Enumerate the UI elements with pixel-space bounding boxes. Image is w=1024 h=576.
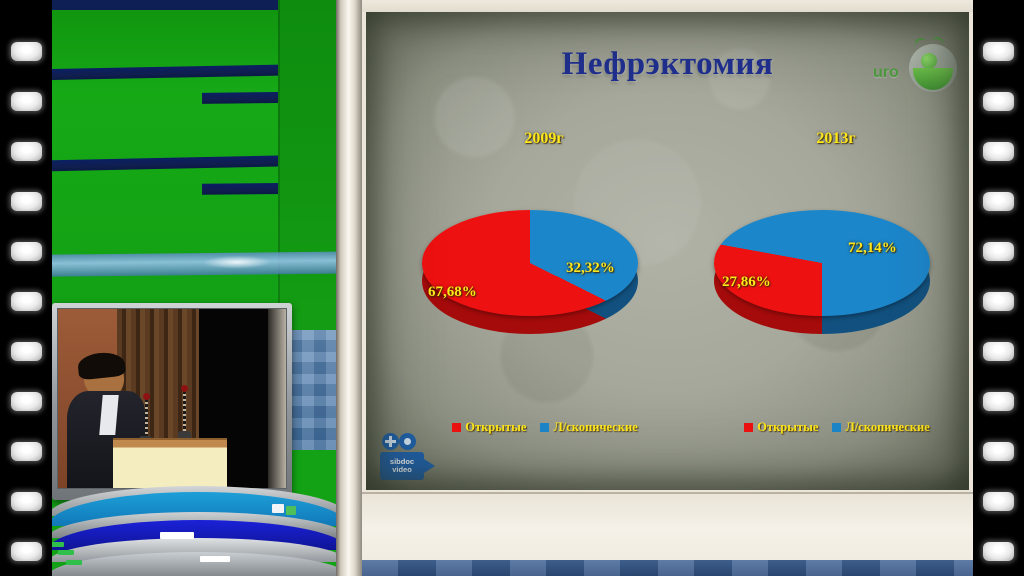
film-sprocket-hole [11,192,42,211]
film-sprocket-hole [983,442,1014,461]
film-sprocket-hole [11,492,42,511]
film-sprocket-hole [983,192,1014,211]
film-sprocket-hole [983,42,1014,61]
film-sprocket-hole [11,442,42,461]
monitor-screen [57,308,287,489]
desk-light-chip [272,504,284,513]
film-sprocket-hole [983,142,1014,161]
presentation-slide: Нефрэктомия uro 2009г 2013г 3 [366,12,969,490]
film-sprocket-hole [983,492,1014,511]
filmstrip-right [973,0,1024,576]
film-sprocket-hole [11,242,42,261]
presentation-area: Нефрэктомия uro 2009г 2013г 3 [362,0,973,576]
film-sprocket-hole [983,392,1014,411]
film-sprocket-hole [11,392,42,411]
film-sprocket-hole [983,542,1014,561]
inset-monitor [52,303,292,500]
film-sprocket-hole [983,92,1014,111]
desk-light-chip [50,542,64,547]
screenshot-root: Нефрэктомия uro 2009г 2013г 3 [0,0,1024,576]
desk-light-chip [286,506,296,515]
desk-light-chip [160,532,194,539]
bottom-blue-band [362,560,973,576]
glass-highlight [202,255,272,269]
desk-light-chip [58,550,74,555]
film-sprocket-hole [11,142,42,161]
film-sprocket-hole [11,342,42,361]
studio-desk [40,486,360,576]
desk-light-chip [200,556,230,562]
slide-top-border [362,0,973,12]
film-sprocket-hole [11,292,42,311]
filmstrip-left [0,0,52,576]
stage-edge [268,309,286,488]
film-sprocket-hole [11,42,42,61]
studio-right-wall [278,0,336,330]
film-sprocket-hole [11,542,42,561]
podium [113,438,227,488]
studio-glass-band [52,251,336,276]
microphone-left [145,399,148,442]
slide-vignette [366,12,969,490]
speaker-hair [77,351,126,381]
microphone-right [183,391,186,436]
studio-column [336,0,362,576]
film-sprocket-hole [983,242,1014,261]
film-sprocket-hole [983,292,1014,311]
desk-light-chip [66,560,82,565]
film-sprocket-hole [983,342,1014,361]
film-sprocket-hole [11,92,42,111]
